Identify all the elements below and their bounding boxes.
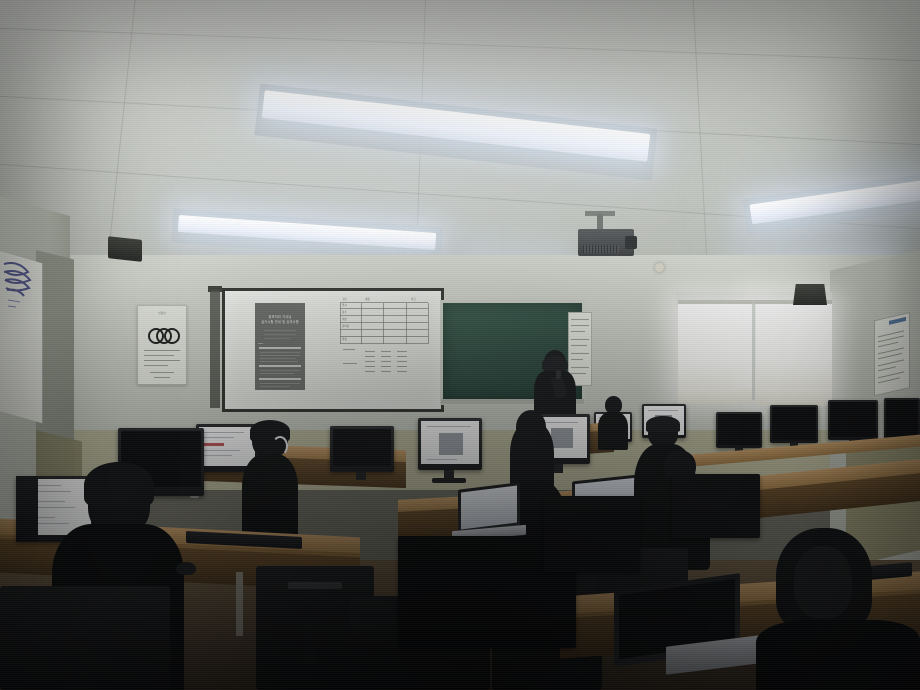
student-center-right-cap [646, 416, 680, 432]
slide-title-card: 정보처리 기사님 실기시험 안내 및 유의사항 [255, 303, 305, 390]
wall-speaker-right [793, 284, 827, 305]
desk-leg-2 [236, 572, 243, 636]
slide-table-header-2: 비고 [411, 298, 416, 301]
monitor-mid-foreground [672, 474, 760, 538]
student-right-rear [598, 396, 628, 448]
mouse-front-left [176, 562, 196, 575]
slide-table-row-4: 일정 [342, 338, 347, 341]
chair-front-left [0, 586, 170, 690]
monitor-left-rear-2-stand [356, 472, 366, 480]
student-front-left-hair [84, 462, 154, 508]
window-blind-right [756, 300, 832, 398]
ceiling-sensor-icon [655, 263, 664, 272]
classroom-photo: 구분 내용 비고 일시 장소 대상 준비물 일정 정보처리 기사님 실기시험 안… [0, 0, 920, 690]
slide-title-line-2: 실기시험 안내 및 유의사항 [255, 320, 305, 324]
framed-certificate-poster: 인증서 [137, 305, 187, 385]
monitor-left-rear-2 [330, 426, 394, 472]
blue-marker-swirl-icon [2, 258, 38, 318]
slide-title-line-1: 정보처리 기사님 [255, 315, 305, 319]
wall-speaker-left [108, 236, 142, 262]
projector-vent [583, 245, 619, 253]
screen-roller-housing [210, 290, 220, 408]
slide-table-row-0: 일시 [342, 304, 347, 307]
three-ring-logo-icon-c [164, 328, 180, 344]
student-foreground-right [756, 528, 920, 690]
right-wall-notice [874, 312, 910, 396]
notice-header-bar [889, 317, 906, 325]
monitor-foreground-right [544, 496, 640, 572]
monitor-back-3 [828, 400, 878, 440]
microphone-icon [556, 370, 561, 379]
chair-post [304, 604, 314, 664]
slide-table-row-2: 대상 [342, 318, 347, 321]
slide-table-header-1: 내용 [365, 298, 370, 301]
monitor-center-1-base [432, 478, 466, 483]
blind-bottom-left [678, 388, 754, 404]
headphones-icon [272, 436, 288, 456]
poster-left-title: 인증서 [138, 311, 186, 315]
slide-table-row-3: 준비물 [342, 325, 349, 328]
projector-mount [597, 214, 603, 230]
pc-tower-front [16, 476, 38, 542]
blind-bottom-right [756, 388, 832, 406]
student-foreground-right-head [794, 546, 852, 618]
monitor-center-1 [418, 418, 482, 470]
window-mullion [752, 300, 755, 400]
slide-table-header-0: 구분 [342, 298, 347, 301]
monitor-back-2 [770, 405, 818, 443]
projector-lens [625, 236, 637, 249]
monitor-back-1 [716, 412, 762, 448]
slide-table-row-1: 장소 [342, 311, 347, 314]
student-beanie [242, 420, 298, 540]
window-blind-left [678, 302, 754, 398]
monitor-back-4 [884, 398, 920, 440]
